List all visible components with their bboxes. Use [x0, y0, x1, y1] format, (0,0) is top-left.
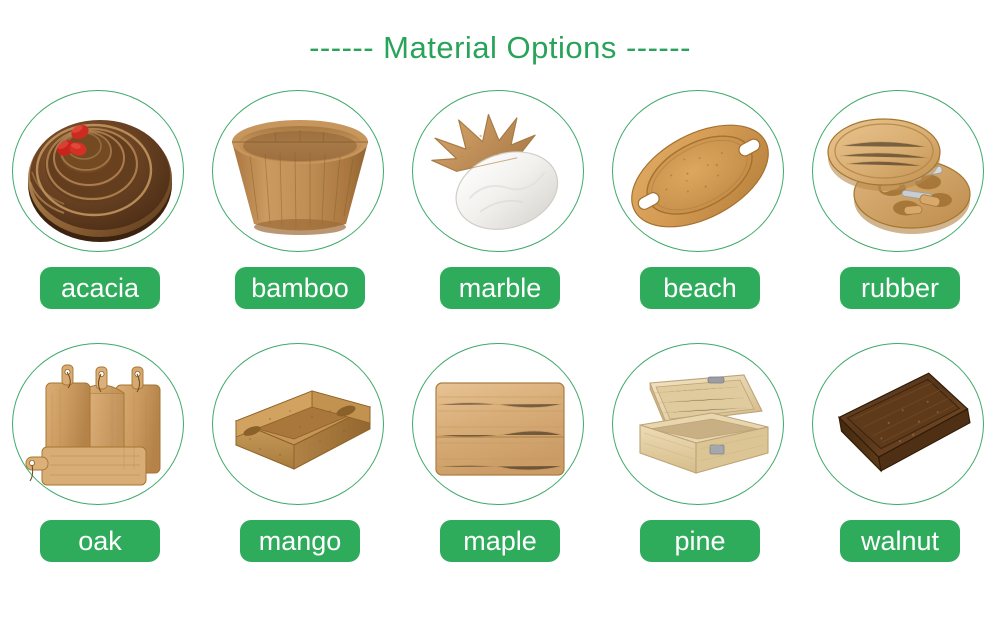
material-thumbnail-mango[interactable]: [209, 341, 391, 511]
material-card-maple[interactable]: maple: [405, 341, 595, 562]
material-label-oak[interactable]: oak: [40, 520, 160, 562]
dark-wood-tray-icon: [820, 349, 980, 504]
material-row: oak: [0, 341, 1000, 594]
material-label-acacia[interactable]: acacia: [40, 267, 160, 309]
material-thumbnail-beach[interactable]: [609, 88, 791, 258]
marble-pineapple-board-icon: [420, 96, 580, 251]
material-label-walnut[interactable]: walnut: [840, 520, 960, 562]
plain-cutting-board-icon: [420, 349, 580, 504]
material-label-beach[interactable]: beach: [640, 267, 760, 309]
material-label-marble[interactable]: marble: [440, 267, 560, 309]
material-thumbnail-oak[interactable]: [9, 341, 191, 511]
material-card-marble[interactable]: marble: [405, 88, 595, 309]
material-card-mango[interactable]: mango: [205, 341, 395, 562]
material-label-rubber[interactable]: rubber: [840, 267, 960, 309]
material-card-acacia[interactable]: acacia: [5, 88, 195, 309]
material-card-bamboo[interactable]: bamboo: [205, 88, 395, 309]
material-row: acacia: [0, 88, 1000, 341]
swivel-cheese-board-icon: [820, 96, 980, 251]
material-card-oak[interactable]: oak: [5, 341, 195, 562]
material-label-maple[interactable]: maple: [440, 520, 560, 562]
bamboo-bowl-icon: [220, 96, 380, 251]
acacia-plates-icon: [20, 96, 180, 251]
material-thumbnail-bamboo[interactable]: [209, 88, 391, 258]
rectangular-tray-icon: [220, 349, 380, 504]
material-thumbnail-rubber[interactable]: [809, 88, 991, 258]
material-card-pine[interactable]: pine: [605, 341, 795, 562]
material-options-grid: acacia: [0, 88, 1000, 594]
material-thumbnail-marble[interactable]: [409, 88, 591, 258]
material-label-mango[interactable]: mango: [240, 520, 360, 562]
material-label-bamboo[interactable]: bamboo: [235, 267, 365, 309]
page-title: ------ Material Options ------: [0, 0, 1000, 69]
oval-tray-icon: [620, 96, 780, 251]
material-card-beach[interactable]: beach: [605, 88, 795, 309]
material-thumbnail-walnut[interactable]: [809, 341, 991, 511]
material-thumbnail-acacia[interactable]: [9, 88, 191, 258]
wooden-box-icon: [620, 349, 780, 504]
material-card-walnut[interactable]: walnut: [805, 341, 995, 562]
material-thumbnail-maple[interactable]: [409, 341, 591, 511]
material-label-pine[interactable]: pine: [640, 520, 760, 562]
material-card-rubber[interactable]: rubber: [805, 88, 995, 309]
material-thumbnail-pine[interactable]: [609, 341, 791, 511]
paddle-board-set-icon: [20, 349, 180, 504]
